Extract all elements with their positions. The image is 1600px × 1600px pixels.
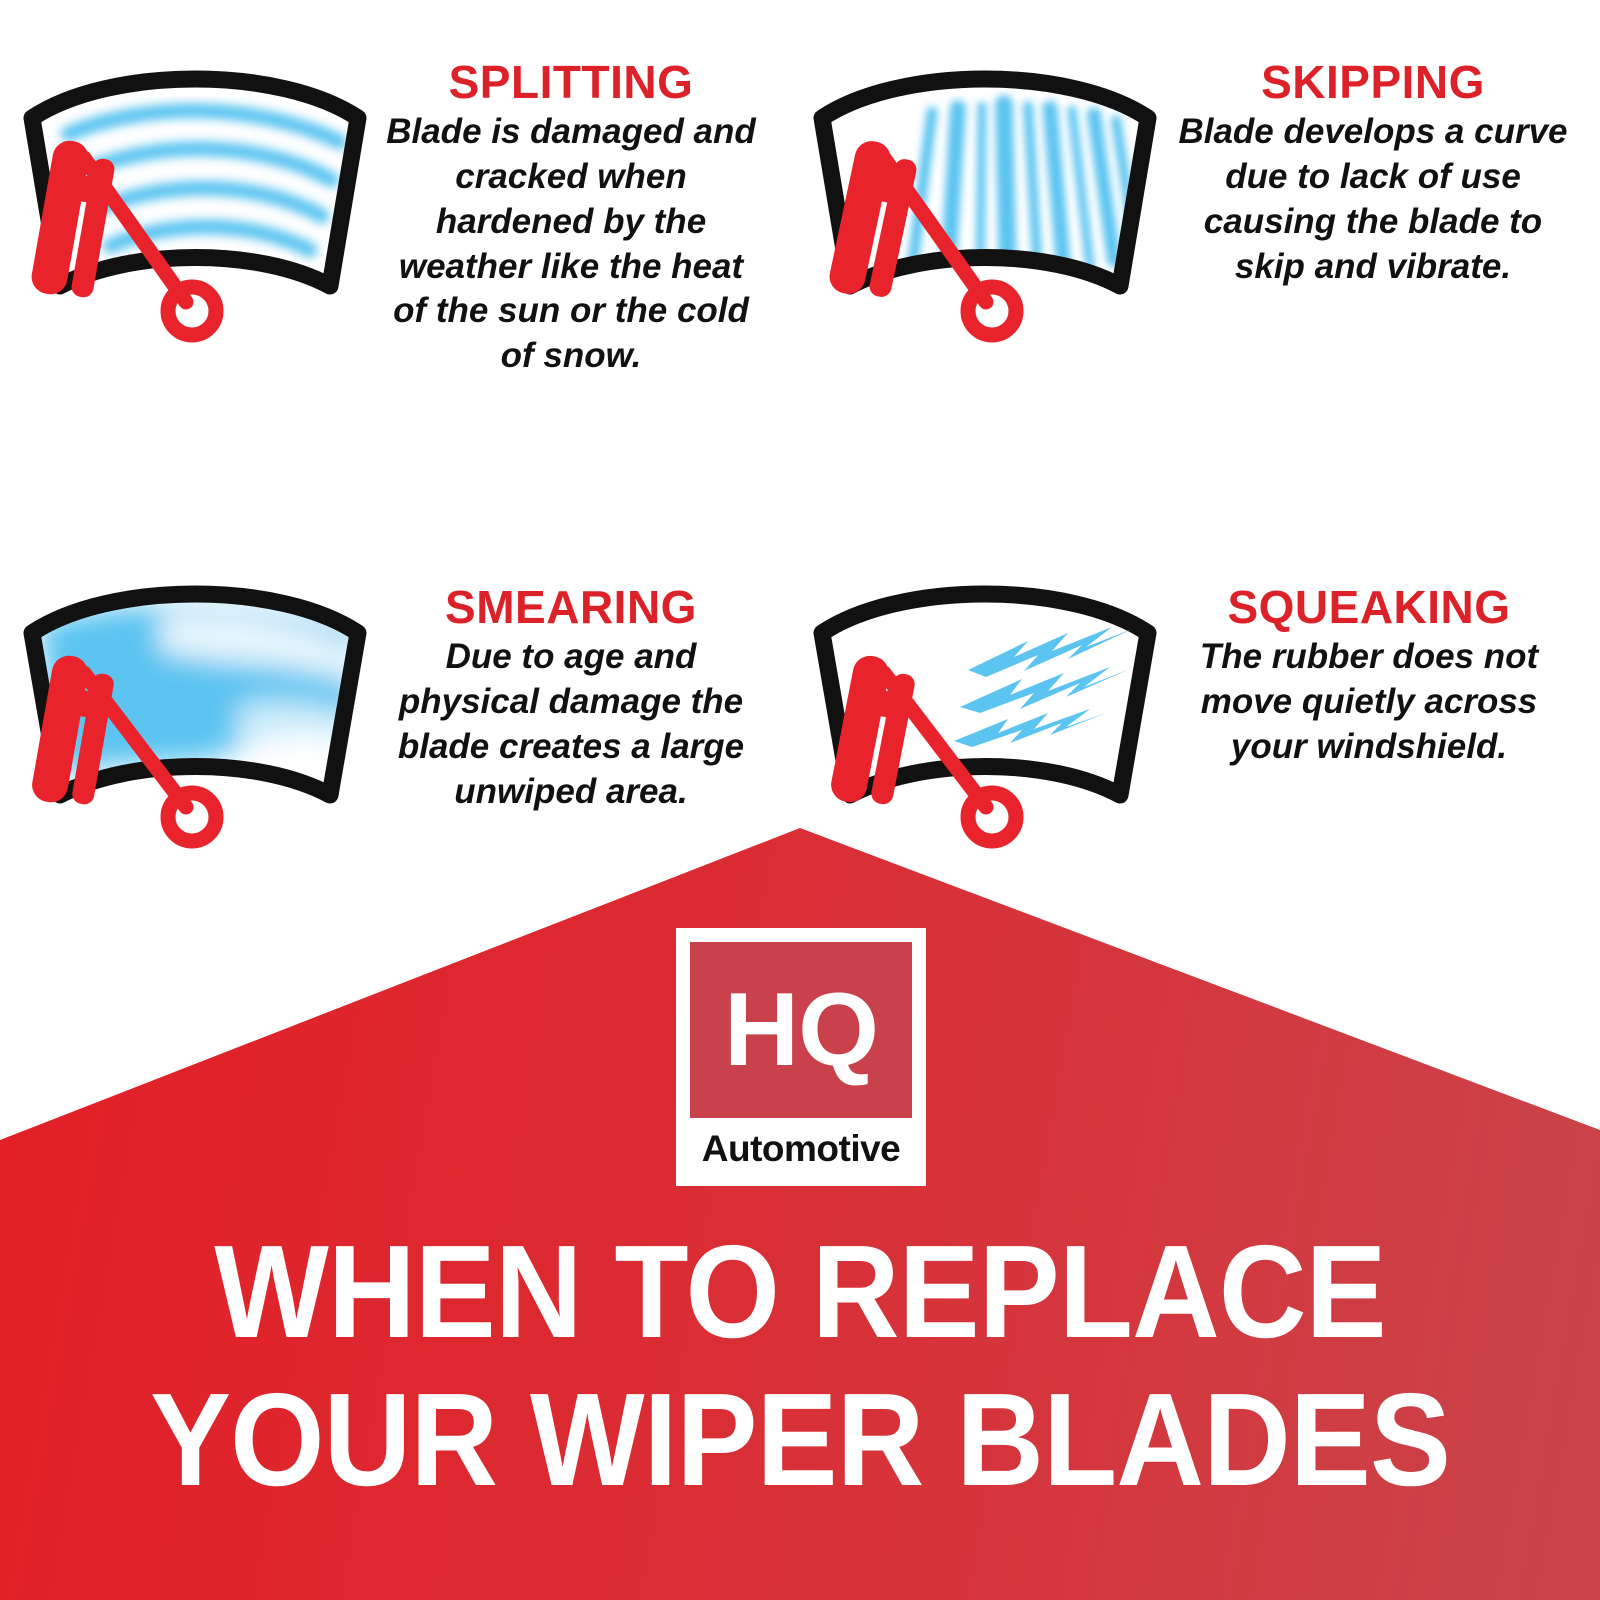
panel-title: SQUEAKING [1170,583,1568,631]
logo-subtitle-text: Automotive [702,1128,901,1170]
symptom-panel-splitting: SPLITTING Blade is damaged and cracked w… [10,30,780,379]
panel-title: SKIPPING [1170,58,1576,106]
zigzag-marks [954,627,1132,747]
headline-line-2: YOUR WIPER BLADES [64,1366,1536,1514]
symptom-panel-grid: SPLITTING Blade is damaged and cracked w… [0,0,1600,840]
headline-block: WHEN TO REPLACE YOUR WIPER BLADES [0,1218,1600,1514]
panel-title: SPLITTING [380,58,762,106]
logo-subtitle-box: Automotive [686,1122,916,1176]
panel-text-splitting: SPLITTING Blade is damaged and cracked w… [380,30,780,379]
panel-title: SMEARING [380,583,762,631]
symptom-panel-skipping: SKIPPING Blade develops a curve due to l… [800,30,1590,350]
windshield-wiper-streaks-icon [800,30,1170,350]
panel-description: Blade develops a curve due to lack of us… [1170,110,1576,289]
panel-description: Blade is damaged and cracked when harden… [380,110,762,379]
windshield-wiper-arcs-icon [10,30,380,350]
panel-description: Due to age and physical damage the blade… [380,635,762,814]
hq-automotive-logo: HQ Automotive [676,928,926,1186]
logo-mark-text: HQ [724,978,878,1082]
symptom-panel-smearing: SMEARING Due to age and physical damage … [10,555,780,855]
headline-line-1: WHEN TO REPLACE [64,1218,1536,1366]
panel-text-skipping: SKIPPING Blade develops a curve due to l… [1170,30,1590,289]
symptom-panel-squeaking: SQUEAKING The rubber does not move quiet… [800,555,1590,855]
logo-mark-box: HQ [686,938,916,1122]
panel-text-squeaking: SQUEAKING The rubber does not move quiet… [1170,555,1590,770]
windshield-wiper-smear-icon [10,555,380,855]
panel-description: The rubber does not move quietly across … [1170,635,1568,769]
windshield-wiper-zigzag-icon [800,555,1170,855]
panel-text-smearing: SMEARING Due to age and physical damage … [380,555,780,814]
